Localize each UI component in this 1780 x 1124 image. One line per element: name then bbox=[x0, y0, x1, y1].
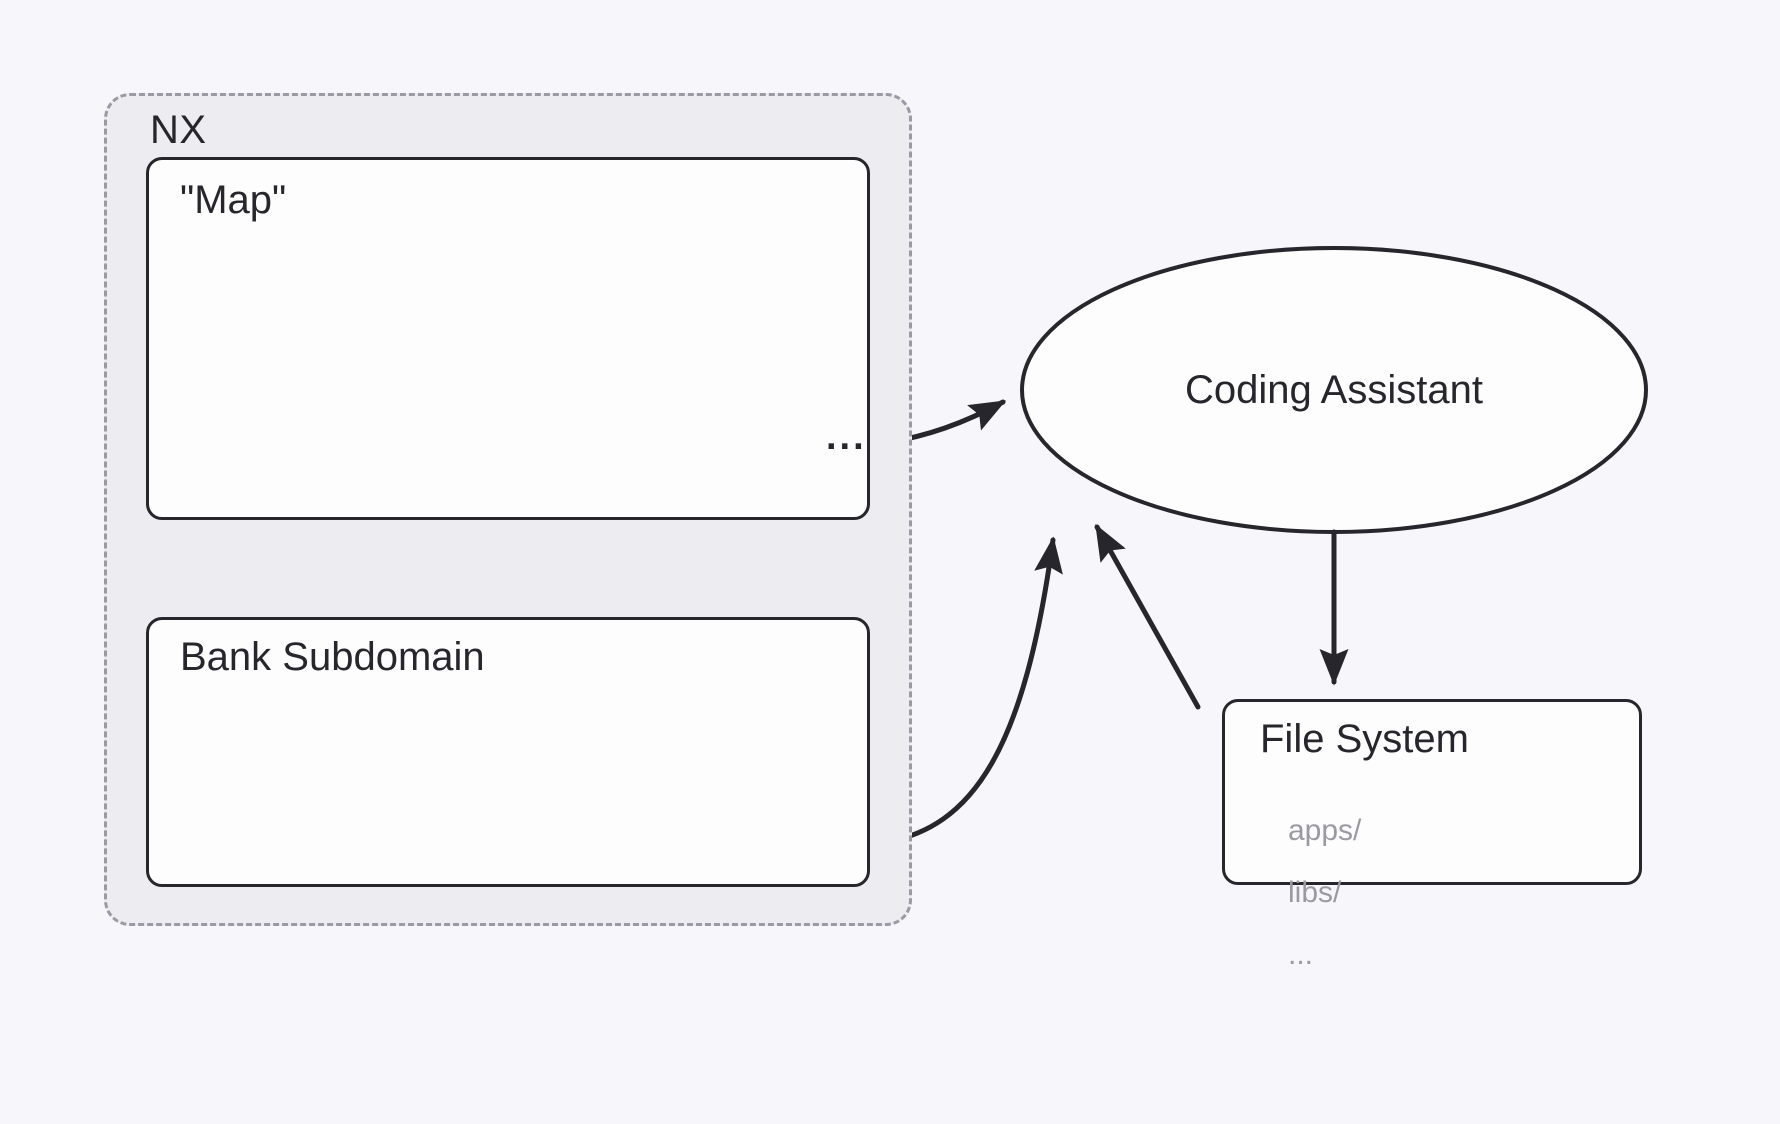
bank-subdomain-title: Bank Subdomain bbox=[180, 637, 485, 677]
file-system-item[interactable]: apps/ bbox=[1288, 800, 1588, 862]
nx-container-label: NX bbox=[150, 110, 207, 150]
file-system-item[interactable]: ... bbox=[1288, 924, 1588, 986]
connector-external-to-assistant bbox=[1097, 527, 1198, 707]
file-system-item[interactable]: libs/ bbox=[1288, 862, 1588, 924]
file-system-title: File System bbox=[1260, 719, 1469, 759]
map-panel-title: "Map" bbox=[180, 180, 286, 220]
coding-assistant-ellipse[interactable] bbox=[1022, 248, 1646, 532]
map-graph-ellipsis: ... bbox=[826, 418, 867, 456]
file-system-item-list: apps/ libs/ ... bbox=[1288, 800, 1588, 986]
